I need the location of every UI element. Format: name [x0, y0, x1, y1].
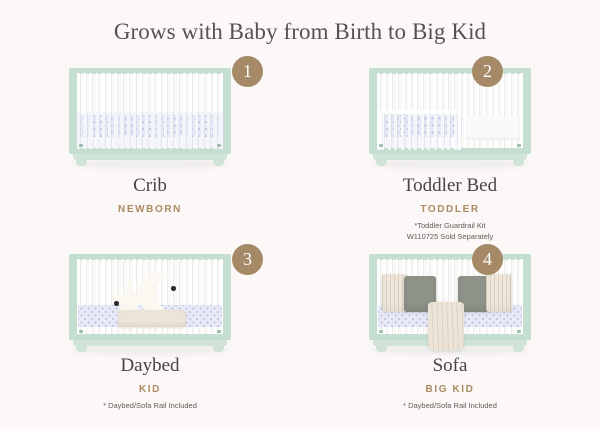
toddler-guardrail — [377, 110, 461, 150]
crib-foot-right — [513, 345, 524, 352]
crib-post-right — [223, 254, 231, 340]
crib-hardware-right — [217, 330, 221, 333]
daybed-illustration: 3 — [0, 242, 300, 354]
crib-shadow — [370, 160, 530, 168]
toddler-mattress-white — [466, 116, 520, 140]
crib-base — [73, 154, 227, 160]
caption-daybed: Daybed KID * Daybed/Sofa Rail Included — [0, 354, 300, 412]
toddler-bed-illustration: 2 — [300, 52, 600, 174]
stage-footnote: * Daybed/Sofa Rail Included — [300, 401, 600, 412]
page-title: Grows with Baby from Birth to Big Kid — [0, 18, 600, 46]
stage-title: Toddler Bed — [300, 174, 600, 198]
panel-sofa[interactable]: 4 — [300, 240, 600, 429]
stage-age-label: KID — [0, 384, 300, 395]
stage-title: Crib — [0, 174, 300, 198]
conversion-chart: Grows with Baby from Birth to Big Kid 1 — [0, 0, 600, 429]
panel-crib[interactable]: 1 — [0, 52, 300, 240]
crib-post-left — [69, 68, 77, 154]
moon-pillow-eye — [171, 286, 176, 291]
step-badge-3: 3 — [232, 244, 263, 275]
crib-shadow — [70, 160, 230, 168]
crib-foot-right — [513, 159, 524, 166]
daybed-bolster-cushion — [118, 310, 186, 327]
stage-age-label: NEWBORN — [0, 204, 300, 215]
crib-post-left — [69, 254, 77, 340]
crib-post-left — [369, 68, 377, 154]
sofa-throw-blanket — [428, 302, 464, 350]
step-badge-4: 4 — [472, 244, 503, 275]
sofa-illustration: 4 — [300, 242, 600, 354]
stage-footnote: * Daybed/Sofa Rail Included — [0, 401, 300, 412]
sofa-pillow-cream-right — [486, 274, 512, 312]
stage-age-label: BIG KID — [300, 384, 600, 395]
sofa-icon — [366, 254, 534, 352]
crib-foot-left — [376, 159, 387, 166]
crib-base — [373, 154, 527, 160]
stage-age-label: TODDLER — [300, 204, 600, 215]
crib-hardware-left — [379, 330, 383, 333]
caption-sofa: Sofa BIG KID * Daybed/Sofa Rail Included — [300, 354, 600, 412]
crib-post-left — [369, 254, 377, 340]
crib-hardware-right — [517, 330, 521, 333]
guardrail-slats — [381, 113, 457, 150]
crib-hardware-left — [79, 330, 83, 333]
crib-post-right — [223, 68, 231, 154]
crib-hardware-right — [217, 144, 221, 147]
star-pillow-eye — [114, 301, 119, 306]
caption-toddler-bed: Toddler Bed TODDLER *Toddler Guardrail K… — [300, 174, 600, 243]
panel-toddler-bed[interactable]: 2 — [300, 52, 600, 240]
stage-grid: 1 — [0, 52, 600, 429]
crib-illustration: 1 — [0, 52, 300, 174]
crib-base — [73, 340, 227, 346]
crib-foot-right — [213, 159, 224, 166]
panel-daybed[interactable]: 3 — [0, 240, 300, 429]
crib-post-right — [523, 254, 531, 340]
crib-front-rail-slats — [77, 112, 223, 149]
crib-foot-right — [213, 345, 224, 352]
toddler-bed-icon — [366, 68, 534, 166]
stage-title: Sofa — [300, 354, 600, 378]
crib-foot-left — [76, 345, 87, 352]
daybed-icon — [66, 254, 234, 352]
crib-foot-left — [76, 159, 87, 166]
crib-shadow — [70, 346, 230, 354]
crib-hardware-right — [517, 144, 521, 147]
stage-title: Daybed — [0, 354, 300, 378]
crib-icon — [66, 68, 234, 166]
caption-crib: Crib NEWBORN — [0, 174, 300, 215]
step-badge-2: 2 — [472, 56, 503, 87]
crib-hardware-left — [379, 144, 383, 147]
crib-post-right — [523, 68, 531, 154]
crib-hardware-left — [79, 144, 83, 147]
crib-foot-left — [376, 345, 387, 352]
step-badge-1: 1 — [232, 56, 263, 87]
